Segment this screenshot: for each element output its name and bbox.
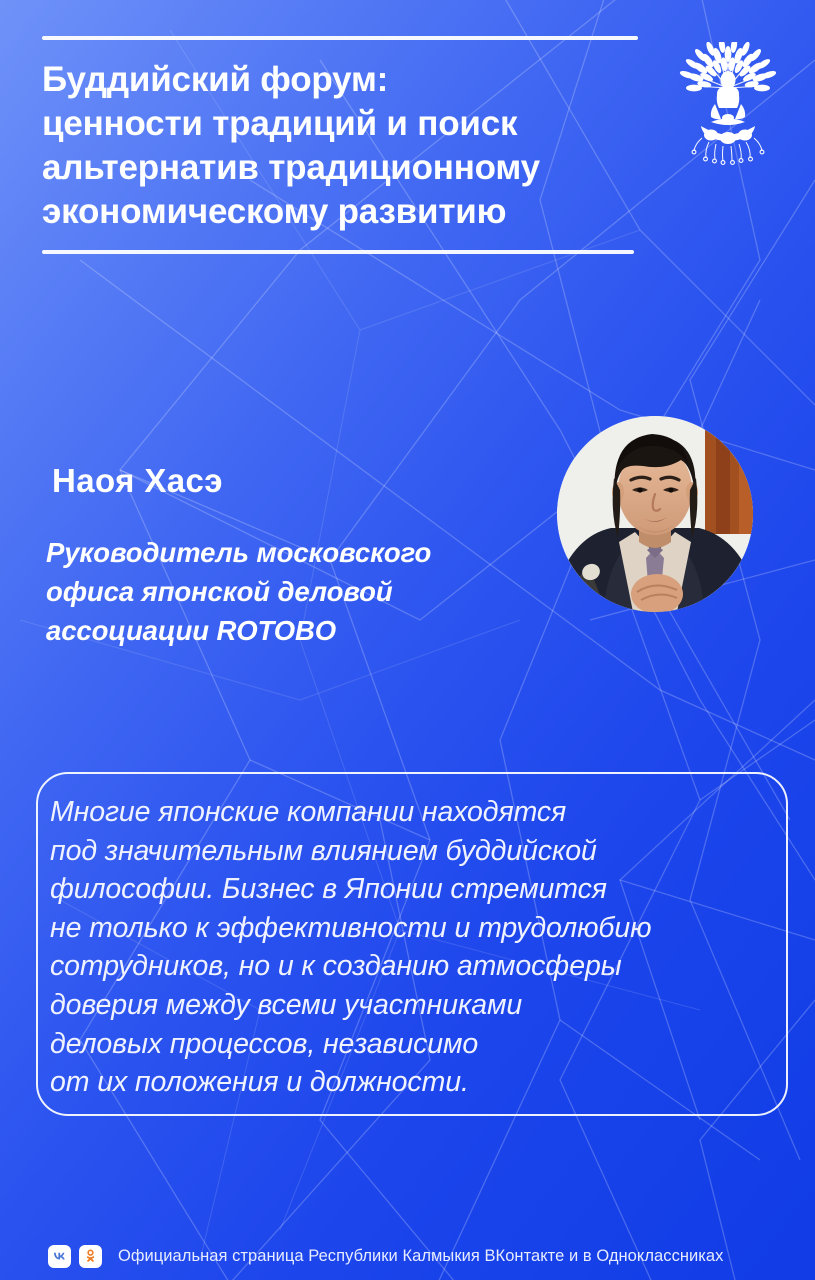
title-line-2: ценности традиций и поиск: [42, 102, 642, 146]
title-line-1: Буддийский форум:: [42, 58, 642, 102]
title-line-4: экономическому развитию: [42, 190, 642, 234]
speaker-role-line-2: офиса японской деловой: [46, 572, 431, 611]
vk-icon[interactable]: [48, 1245, 71, 1268]
quote-line-6: доверия между всеми участниками: [50, 986, 780, 1025]
speaker-role: Руководитель московского офиса японской …: [46, 533, 431, 650]
speaker-name: Наоя Хасэ: [52, 462, 223, 500]
speaker-role-line-3: ассоциации ROTOBO: [46, 611, 431, 650]
quote-text: Многие японские компании находятся под з…: [50, 793, 780, 1102]
buddha-bodhi-tree-logo-icon: [669, 42, 787, 170]
quote-line-2: под значительным влиянием буддийской: [50, 832, 780, 871]
odnoklassniki-icon[interactable]: [79, 1245, 102, 1268]
quote-line-8: от их положения и должности.: [50, 1063, 780, 1102]
title-rule-top: [42, 36, 638, 40]
speaker-portrait: [557, 416, 753, 612]
title-rule-bottom: [42, 250, 634, 254]
footer: Официальная страница Республики Калмыкия…: [0, 1232, 815, 1280]
speaker-role-line-1: Руководитель московского: [46, 533, 431, 572]
page-title: Буддийский форум: ценности традиций и по…: [42, 58, 642, 234]
footer-inner: Официальная страница Республики Калмыкия…: [48, 1245, 723, 1268]
quote-line-3: философии. Бизнес в Японии стремится: [50, 870, 780, 909]
poster-root: Буддийский форум: ценности традиций и по…: [0, 0, 815, 1280]
quote-line-1: Многие японские компании находятся: [50, 793, 780, 832]
footer-text: Официальная страница Республики Калмыкия…: [118, 1247, 723, 1266]
title-line-3: альтернатив традиционному: [42, 146, 642, 190]
quote-line-7: деловых процессов, независимо: [50, 1025, 780, 1064]
quote-line-5: сотрудников, но и к созданию атмосферы: [50, 947, 780, 986]
title-block: Буддийский форум: ценности традиций и по…: [42, 36, 642, 254]
quote-line-4: не только к эффективности и трудолюбию: [50, 909, 780, 948]
